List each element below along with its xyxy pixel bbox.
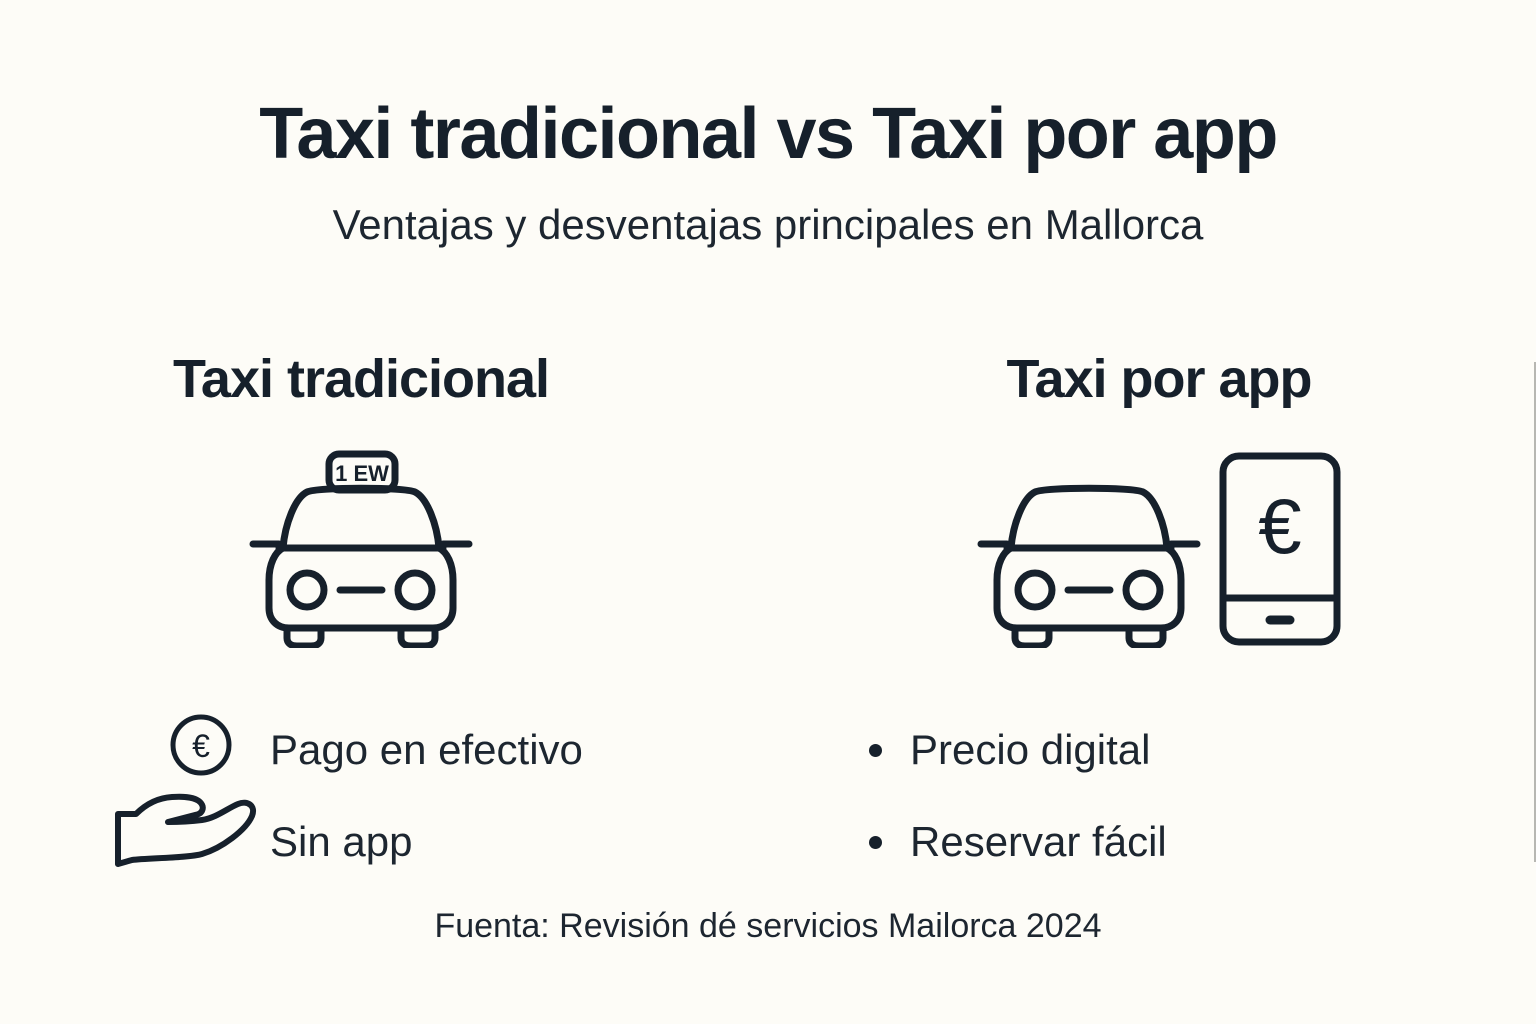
bullet-dot-icon [869,836,882,849]
footer: Fuenta: Revisión dé servicios Mailorca 2… [0,908,1536,945]
car-with-phone-icon-area: € [768,448,1536,648]
car-with-phone-icon: € [973,448,1345,648]
column-taxi-por-app: Taxi por app [768,352,1536,872]
list-item-label: Reservar fácil [910,821,1167,863]
list-marker-slot [840,744,910,757]
page-subtitle: Ventajas y desventajas principales en Ma… [0,202,1536,248]
list-marker-slot [840,836,910,849]
column-title-left: Taxi tradicional [0,352,768,406]
list-item-label: Sin app [270,821,412,863]
taxi-car-icon: 1 EW [245,448,477,648]
list-item: Precio digital [840,704,1400,796]
list-item: Sin app [110,796,710,888]
list-item-label: Pago en efectivo [270,729,583,771]
page-title: Taxi tradicional vs Taxi por app [0,96,1536,172]
phone-euro-symbol: € [1258,482,1301,570]
list-item: Pago en efectivo [110,704,710,796]
header: Taxi tradicional vs Taxi por app Ventaja… [0,96,1536,249]
bullet-dot-icon [869,744,882,757]
column-taxi-tradicional: Taxi tradicional [0,352,768,872]
comparison-columns: Taxi tradicional [0,352,1536,872]
list-item: Reservar fácil [840,796,1400,888]
taxi-car-icon-area: 1 EW [0,448,768,648]
benefits-list-right: Precio digital Reservar fácil [840,704,1400,888]
benefits-list-left: Pago en efectivo Sin app [110,704,710,888]
list-item-label: Precio digital [910,729,1150,771]
source-note: Fuenta: Revisión dé servicios Mailorca 2… [0,908,1536,945]
column-title-right: Taxi por app [768,352,1536,406]
infographic-poster: Taxi tradicional vs Taxi por app Ventaja… [0,0,1536,1024]
taxi-roof-sign-label: 1 EW [335,461,389,486]
